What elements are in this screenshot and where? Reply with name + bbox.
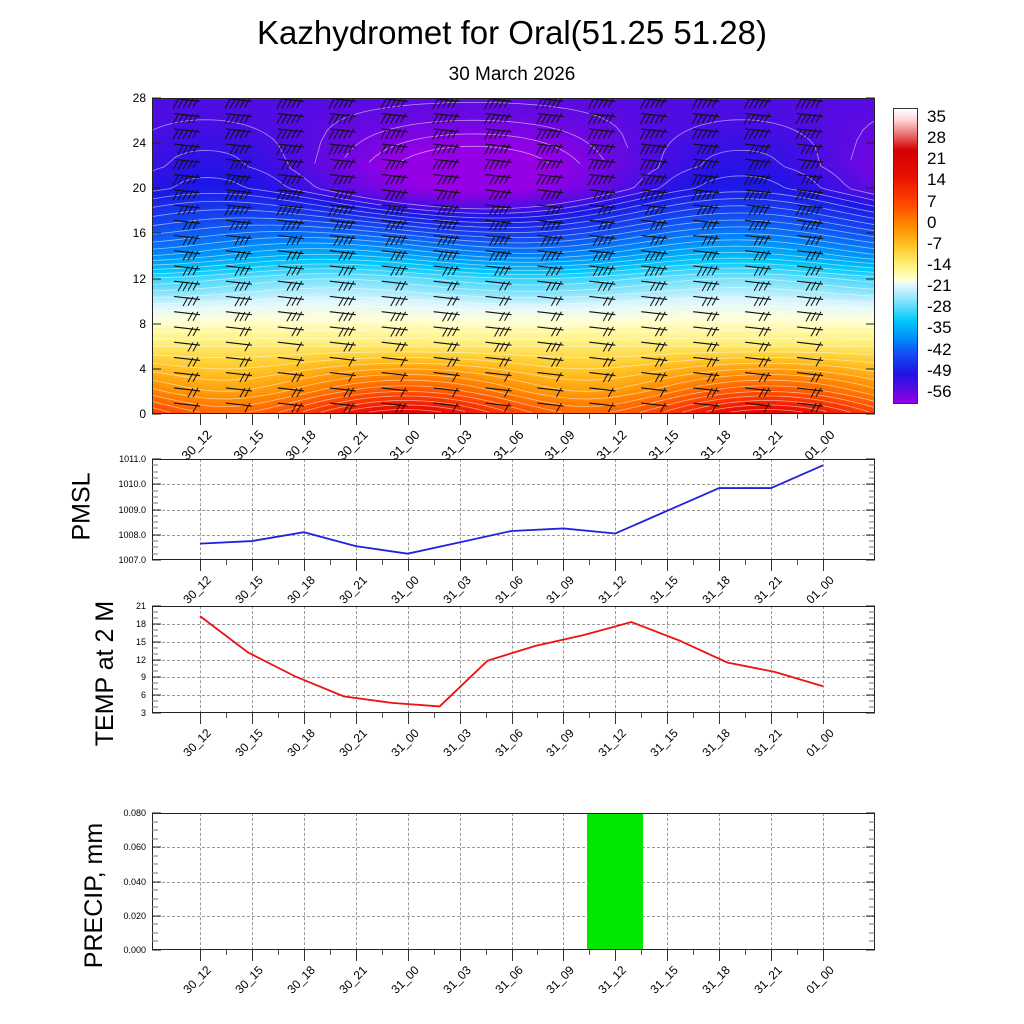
y-axis-tick [866,950,875,951]
x-axis-tick-label: 30_15 [232,726,265,759]
x-axis-minor-tick [486,713,487,718]
y-axis-minor-tick [152,671,158,672]
cross-section-panel: 0481216202428 30_1230_1530_1830_2131_003… [152,98,875,414]
y-axis-minor-tick [152,890,158,891]
y-axis-minor-tick [869,490,875,491]
y-axis-minor-tick [869,471,875,472]
x-axis-tick [512,713,513,724]
y-axis-minor-tick [869,553,875,554]
x-axis-tick [356,414,357,425]
y-axis-minor-tick [152,924,158,925]
y-axis-tick [152,847,161,848]
y-axis-minor-tick [152,707,158,708]
x-axis-tick-label: 31_15 [648,726,681,759]
x-axis-minor-tick [537,950,538,955]
y-axis-tick [152,323,161,324]
x-axis-tick [512,560,513,571]
y-axis-tick-label: 20 [133,181,152,195]
x-axis-minor-tick [330,414,331,419]
x-axis-minor-tick [486,414,487,419]
x-axis-minor-tick [434,414,435,419]
x-axis-tick-label: 31_06 [492,963,525,996]
x-axis-tick-label: 01_00 [803,573,836,606]
cross-section-frame [152,98,875,414]
x-axis-minor-tick [537,560,538,565]
y-axis-tick [152,713,161,714]
x-axis-tick [408,950,409,961]
x-axis-tick-label: 31_18 [700,573,733,606]
y-axis-minor-tick [869,515,875,516]
colorbar-tick-label: 14 [927,170,946,190]
x-axis-tick [719,560,720,571]
y-axis-tick-label: 1009.0 [118,505,152,515]
colorbar-tick-label: 35 [927,107,946,127]
x-axis-tick-label: 31_09 [542,427,578,463]
x-axis-minor-tick [745,414,746,419]
y-axis-minor-tick [869,683,875,684]
y-axis-minor-tick [869,864,875,865]
y-axis-tick [866,915,875,916]
x-axis-tick-label: 31_15 [646,427,682,463]
y-axis-tick-label: 21 [136,601,152,611]
pmsl-axis-label: PMSL [68,472,97,540]
y-axis-tick-label: 0 [139,407,152,421]
y-axis-minor-tick [152,855,158,856]
y-axis-tick-label: 6 [141,690,152,700]
y-axis-tick-label: 4 [139,362,152,376]
x-axis-tick [460,560,461,571]
x-axis-tick-label: 30_12 [180,573,213,606]
x-axis-tick [304,713,305,724]
y-axis-tick [866,641,875,642]
x-axis-tick-label: 30_12 [178,427,214,463]
y-axis-minor-tick [152,907,158,908]
x-axis-minor-tick [797,713,798,718]
y-axis-tick-label: 24 [133,136,152,150]
x-axis-tick-label: 30_15 [230,427,266,463]
x-axis-minor-tick [641,414,642,419]
y-axis-minor-tick [869,611,875,612]
x-axis-tick [200,713,201,724]
colorbar-tick-label: -42 [927,340,952,360]
page-subtitle: 30 March 2026 [0,64,1024,86]
page-title: Kazhydromet for Oral(51.25 51.28) [0,14,1024,52]
x-axis-tick [408,560,409,571]
y-axis-minor-tick [152,683,158,684]
x-axis-tick-label: 31_03 [440,726,473,759]
x-axis-tick [615,414,616,425]
x-axis-tick-label: 01_00 [803,963,836,996]
y-axis-minor-tick [152,496,158,497]
y-axis-tick [866,713,875,714]
y-axis-tick [866,414,875,415]
y-axis-minor-tick [152,617,158,618]
x-axis-tick [200,950,201,961]
x-axis-minor-tick [278,414,279,419]
x-axis-minor-tick [589,713,590,718]
x-axis-tick [563,950,564,961]
y-axis-tick [152,813,161,814]
y-axis-minor-tick [152,898,158,899]
y-axis-tick [152,98,161,99]
x-axis-minor-tick [330,950,331,955]
x-axis-tick-label: 30_21 [336,963,369,996]
x-axis-tick [823,713,824,724]
y-axis-minor-tick [152,864,158,865]
x-axis-tick [252,560,253,571]
x-axis-tick [356,560,357,571]
x-axis-tick-label: 30_12 [180,963,213,996]
y-axis-minor-tick [152,528,158,529]
x-axis-minor-tick [641,560,642,565]
y-axis-minor-tick [152,941,158,942]
x-axis-tick [563,713,564,724]
x-axis-tick [667,950,668,961]
y-axis-tick [866,623,875,624]
x-axis-minor-tick [589,414,590,419]
y-axis-minor-tick [869,872,875,873]
y-axis-tick [152,915,161,916]
x-axis-tick [304,950,305,961]
x-axis-minor-tick [589,950,590,955]
y-axis-tick [866,847,875,848]
y-axis-minor-tick [869,689,875,690]
x-axis-tick [408,713,409,724]
y-axis-minor-tick [869,617,875,618]
x-axis-minor-tick [382,950,383,955]
y-axis-minor-tick [869,528,875,529]
x-axis-tick-label: 30_18 [282,427,318,463]
y-axis-tick [152,881,161,882]
x-axis-tick-label: 01_00 [803,726,836,759]
x-axis-tick-label: 31_12 [596,573,629,606]
y-axis-minor-tick [869,629,875,630]
y-axis-minor-tick [152,547,158,548]
y-axis-minor-tick [869,838,875,839]
x-axis-tick [823,414,824,425]
y-axis-tick [152,659,161,660]
x-axis-tick-label: 31_03 [440,963,473,996]
x-axis-tick [823,950,824,961]
x-axis-tick-label: 30_21 [336,726,369,759]
y-axis-minor-tick [869,898,875,899]
y-axis-minor-tick [869,547,875,548]
colorbar-tick-label: -7 [927,234,942,254]
x-axis-tick-label: 31_15 [648,963,681,996]
y-axis-tick [152,484,161,485]
x-axis-tick [200,414,201,425]
y-axis-tick [866,484,875,485]
y-axis-tick-label: 12 [133,272,152,286]
x-axis-tick [667,414,668,425]
x-axis-minor-tick [434,950,435,955]
x-axis-minor-tick [693,560,694,565]
x-axis-minor-tick [537,713,538,718]
precip-panel: 0.0000.0200.0400.0600.080 30_1230_1530_1… [152,813,875,950]
x-axis-minor-tick [434,560,435,565]
x-axis-minor-tick [797,414,798,419]
colorbar-tick-label: -21 [927,276,952,296]
y-axis-tick [866,881,875,882]
x-axis-minor-tick [278,560,279,565]
y-axis-tick-label: 12 [136,655,152,665]
y-axis-tick-label: 0.020 [123,911,152,921]
y-axis-minor-tick [869,924,875,925]
y-axis-minor-tick [869,522,875,523]
colorbar-tick-label: -35 [927,318,952,338]
y-axis-tick-label: 0.040 [123,877,152,887]
y-axis-tick-label: 1010.0 [118,479,152,489]
y-axis-minor-tick [869,496,875,497]
x-axis-tick [771,560,772,571]
x-axis-tick-label: 30_15 [232,573,265,606]
y-axis-tick [152,233,161,234]
colorbar-tick-label: 28 [927,128,946,148]
y-axis-minor-tick [152,611,158,612]
x-axis-tick [460,713,461,724]
y-axis-minor-tick [869,701,875,702]
colorbar-tick-label: -56 [927,382,952,402]
y-axis-tick [152,509,161,510]
y-axis-tick-label: 18 [136,619,152,629]
y-axis-tick [866,143,875,144]
x-axis-minor-tick [641,713,642,718]
temp-axis-label: TEMP at 2 M [91,601,120,746]
y-axis-minor-tick [869,503,875,504]
x-axis-tick [615,560,616,571]
y-axis-minor-tick [152,477,158,478]
y-axis-minor-tick [152,821,158,822]
x-axis-tick-label: 31_15 [648,573,681,606]
y-axis-minor-tick [869,821,875,822]
x-axis-minor-tick [226,950,227,955]
x-axis-tick-label: 31_03 [440,573,473,606]
x-axis-tick-label: 31_06 [492,573,525,606]
colorbar-tick-label: 7 [927,192,936,212]
x-axis-tick-label: 30_12 [180,726,213,759]
colorbar-tick-label: 0 [927,213,936,233]
x-axis-minor-tick [382,414,383,419]
x-axis-tick [460,950,461,961]
y-axis-tick [152,641,161,642]
y-axis-tick [866,534,875,535]
y-axis-tick [152,188,161,189]
y-axis-tick-label: 28 [133,91,152,105]
x-axis-tick [460,414,461,425]
x-axis-tick [823,560,824,571]
y-axis-tick-label: 3 [141,708,152,718]
x-axis-minor-tick [693,414,694,419]
x-axis-minor-tick [797,560,798,565]
x-axis-tick-label: 31_00 [388,963,421,996]
x-axis-tick [615,713,616,724]
y-axis-minor-tick [869,541,875,542]
x-axis-tick-label: 31_18 [700,726,733,759]
x-axis-tick-label: 31_00 [388,726,421,759]
x-axis-tick-label: 31_21 [751,726,784,759]
colorbar-tick-label: 21 [927,149,946,169]
colorbar-gradient [893,108,918,404]
x-axis-tick-label: 30_18 [284,963,317,996]
x-axis-tick-label: 30_21 [336,573,369,606]
y-axis-minor-tick [152,830,158,831]
x-axis-tick [719,950,720,961]
x-axis-tick [408,414,409,425]
y-axis-tick [152,368,161,369]
x-axis-tick-label: 31_06 [492,726,525,759]
x-axis-tick-label: 30_18 [284,573,317,606]
y-axis-tick [152,950,161,951]
y-axis-minor-tick [152,515,158,516]
x-axis-tick [200,560,201,571]
temperature-colorbar: 3528211470-7-14-21-28-35-42-49-56 [893,108,918,404]
x-axis-tick-label: 31_00 [388,573,421,606]
y-axis-tick [866,560,875,561]
y-axis-minor-tick [152,689,158,690]
x-axis-tick-label: 31_21 [751,963,784,996]
x-axis-tick-label: 01_00 [801,427,837,463]
y-axis-tick [866,188,875,189]
x-axis-minor-tick [226,560,227,565]
y-axis-tick-label: 1007.0 [118,555,152,565]
y-axis-minor-tick [869,671,875,672]
y-axis-minor-tick [869,665,875,666]
x-axis-tick [356,713,357,724]
weather-forecast-chart: Kazhydromet for Oral(51.25 51.28) 30 Mar… [0,0,1024,1024]
x-axis-tick [563,414,564,425]
y-axis-minor-tick [869,907,875,908]
x-axis-minor-tick [693,713,694,718]
y-axis-tick [152,695,161,696]
y-axis-tick [152,278,161,279]
x-axis-tick [719,713,720,724]
x-axis-tick [563,560,564,571]
x-axis-tick-label: 30_15 [232,963,265,996]
y-axis-minor-tick [152,465,158,466]
y-axis-minor-tick [152,701,158,702]
y-axis-tick-label: 16 [133,226,152,240]
y-axis-tick [866,695,875,696]
x-axis-minor-tick [278,713,279,718]
x-axis-minor-tick [797,950,798,955]
y-axis-tick [152,534,161,535]
y-axis-tick [866,233,875,234]
x-axis-tick [667,713,668,724]
x-axis-tick [252,713,253,724]
y-axis-minor-tick [869,707,875,708]
x-axis-tick-label: 31_12 [596,726,629,759]
x-axis-minor-tick [382,560,383,565]
y-axis-minor-tick [152,635,158,636]
x-axis-tick [512,414,513,425]
x-axis-tick [512,950,513,961]
x-axis-tick [771,414,772,425]
x-axis-minor-tick [278,950,279,955]
y-axis-tick [866,368,875,369]
y-axis-tick [152,677,161,678]
x-axis-tick [252,414,253,425]
y-axis-tick-label: 0.000 [123,945,152,955]
x-axis-tick-label: 31_18 [698,427,734,463]
x-axis-minor-tick [693,950,694,955]
y-axis-minor-tick [152,838,158,839]
x-axis-minor-tick [641,950,642,955]
y-axis-tick [152,414,161,415]
y-axis-tick [866,606,875,607]
x-axis-tick [615,950,616,961]
y-axis-tick [152,606,161,607]
y-axis-minor-tick [152,541,158,542]
x-axis-minor-tick [537,414,538,419]
x-axis-tick-label: 31_21 [750,427,786,463]
y-axis-minor-tick [152,522,158,523]
x-axis-minor-tick [226,414,227,419]
x-axis-tick [356,950,357,961]
temp-panel: 36912151821 30_1230_1530_1830_2131_0031_… [152,606,875,713]
y-axis-minor-tick [152,872,158,873]
y-axis-tick-label: 15 [136,637,152,647]
y-axis-minor-tick [152,553,158,554]
x-axis-minor-tick [745,560,746,565]
y-axis-tick [866,659,875,660]
y-axis-minor-tick [869,647,875,648]
x-axis-minor-tick [330,713,331,718]
y-axis-tick [866,813,875,814]
y-axis-minor-tick [152,653,158,654]
x-axis-tick-label: 31_12 [596,963,629,996]
x-axis-tick-label: 31_21 [751,573,784,606]
y-axis-minor-tick [869,635,875,636]
x-axis-tick-label: 31_18 [700,963,733,996]
precip-axis-label: PRECIP, mm [80,823,109,968]
x-axis-tick-label: 31_09 [544,573,577,606]
x-axis-tick-label: 31_09 [544,963,577,996]
x-axis-tick [719,414,720,425]
y-axis-minor-tick [869,653,875,654]
y-axis-tick [866,278,875,279]
x-axis-tick-label: 31_00 [386,427,422,463]
y-axis-minor-tick [152,932,158,933]
x-axis-minor-tick [434,713,435,718]
y-axis-tick [152,623,161,624]
y-axis-minor-tick [152,647,158,648]
x-axis-minor-tick [226,713,227,718]
x-axis-tick-label: 31_09 [544,726,577,759]
colorbar-tick-label: -14 [927,255,952,275]
y-axis-minor-tick [869,941,875,942]
y-axis-tick-label: 0.080 [123,808,152,818]
temp-frame [152,606,875,713]
y-axis-tick-label: 0.060 [123,842,152,852]
x-axis-tick-label: 31_03 [438,427,474,463]
x-axis-tick [771,950,772,961]
y-axis-minor-tick [869,855,875,856]
x-axis-tick [252,950,253,961]
x-axis-tick [771,713,772,724]
y-axis-minor-tick [869,465,875,466]
pmsl-panel: 1007.01008.01009.01010.01011.0 30_1230_1… [152,459,875,560]
x-axis-minor-tick [486,950,487,955]
y-axis-tick-label: 8 [139,317,152,331]
x-axis-minor-tick [330,560,331,565]
y-axis-minor-tick [152,471,158,472]
x-axis-minor-tick [382,713,383,718]
y-axis-tick [152,143,161,144]
precip-frame [152,813,875,950]
x-axis-tick [667,560,668,571]
x-axis-minor-tick [589,560,590,565]
x-axis-tick-label: 30_18 [284,726,317,759]
